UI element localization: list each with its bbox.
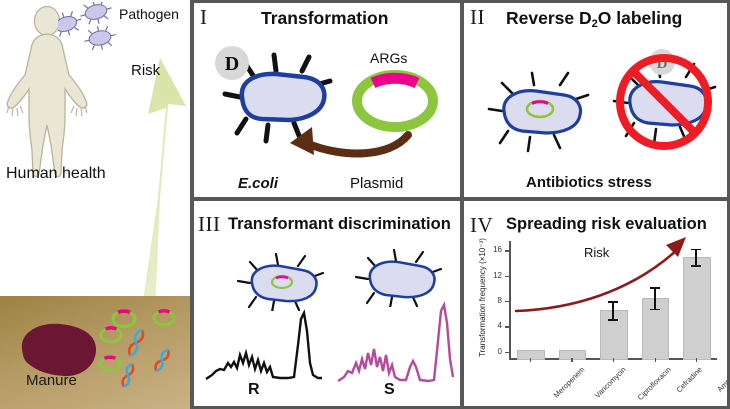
y-tick-label-0: 0 [486,347,502,356]
spectrum-label-r: R [248,381,260,399]
x-tick-label-cefradine: Cefradine [674,365,703,394]
x-tick-mark-4 [696,358,697,362]
panel-numeral-iii: III [198,212,220,237]
curved-arrow-icon [274,113,414,173]
dna-helix-icon [121,329,171,388]
x-tick-mark-3 [655,358,656,362]
deuterium-badge-label: D [225,53,239,75]
human-health-label: Human health [6,165,106,183]
y-tick-mark-3 [505,276,509,277]
y-tick-label-2: 8 [486,296,502,305]
y-tick-label-3: 12 [486,271,502,280]
panel-reverse-d2o: II Reverse D2O labeling [464,3,727,197]
x-tick-label-vancomycin: Vancomycin [593,365,628,400]
bar-chart: Transformation frequency (×10⁻³) 0481216… [464,201,727,406]
x-tick-label-ciprofloxacin: Ciprofloxacin [636,365,673,402]
risk-annotation-label: Risk [584,245,609,260]
x-tick-mark-1 [571,358,572,362]
panel-numeral-ii: II [470,5,485,30]
panel-title-reverse-d2o: Reverse D2O labeling [506,8,682,30]
risk-label-left: Risk [131,62,160,79]
figure-root: Pathogen Risk Human health Manure [0,0,730,409]
args-label: ARGs [370,50,407,66]
panel-transformant-discrimination: III Transformant discrimination R [194,201,460,406]
left-context-column: Pathogen Risk Human health Manure [0,0,190,409]
plasmid-and-dna-pool [98,302,188,394]
curved-up-arrow-icon [510,229,720,339]
panel-title-transformation: Transformation [261,8,388,29]
y-tick-mark-4 [505,250,509,251]
spectrum-label-s: S [384,381,395,399]
y-tick-mark-0 [505,352,509,353]
x-tick-label-meropenem: Meropenem [552,365,587,400]
caption-plasmid: Plasmid [350,175,403,192]
panel-transformation: I Transformation D ARGs [194,3,460,197]
x-tick-mark-0 [530,358,531,362]
x-tick-mark-2 [613,358,614,362]
x-tick-label-ampicillin: Ampicillin [715,365,727,394]
caption-ecoli: E.coli [238,175,278,192]
panel-numeral-i: I [200,5,208,30]
panel-spreading-risk: IV Spreading risk evaluation Transformat… [464,201,727,406]
y-tick-label-1: 4 [486,321,502,330]
title-prefix: Reverse D [506,8,592,28]
y-tick-mark-2 [505,301,509,302]
panel-title-discrimination: Transformant discrimination [228,215,451,234]
bacterium-with-plasmid-icon [234,249,334,311]
manure-label: Manure [26,372,77,389]
caption-antibiotics-stress: Antibiotics stress [526,174,652,191]
pathogen-label: Pathogen [119,6,179,22]
bacterium-icon [352,245,452,307]
y-tick-label-4: 16 [486,245,502,254]
y-tick-mark-1 [505,326,509,327]
raman-spectrum-icon [334,301,454,387]
bacterium-with-plasmid-icon [482,57,602,162]
bacterium-blocked-group: D [600,45,727,163]
raman-spectrum-icon [202,305,322,385]
title-suffix: O labeling [598,8,683,28]
upward-arrow-icon [82,48,192,338]
